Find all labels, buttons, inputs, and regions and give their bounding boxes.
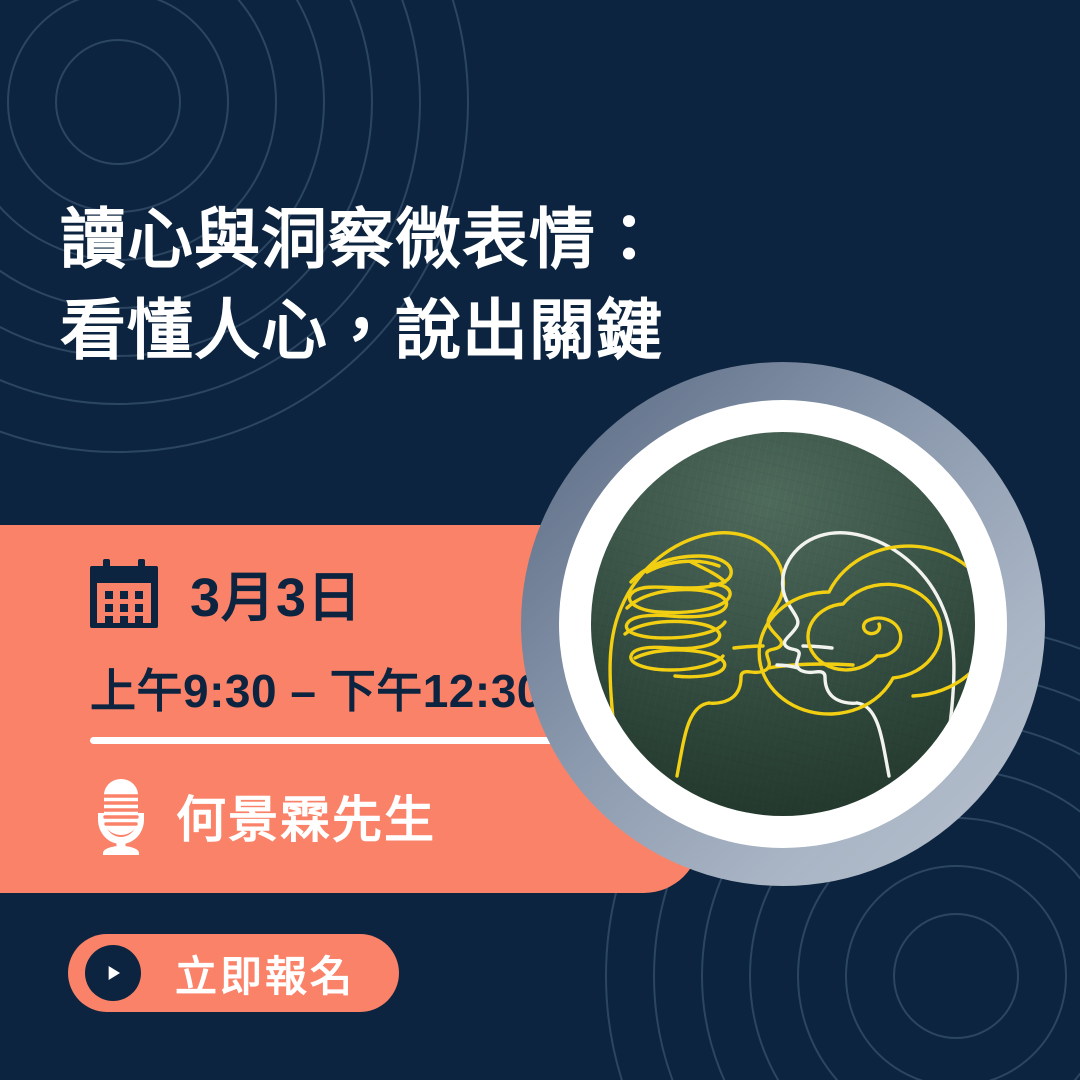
chalkboard-texture	[591, 432, 975, 816]
event-artwork-medallion	[521, 362, 1045, 886]
event-speaker: 何景霖先生	[176, 780, 436, 852]
page-title-line-1: 讀心與洞察微表情：	[60, 194, 780, 285]
microphone-icon	[92, 777, 150, 855]
event-speaker-row: 何景霖先生	[92, 777, 436, 855]
event-date: 3月3日	[190, 553, 362, 632]
register-button-label: 立即報名	[175, 943, 355, 1004]
chalkboard-illustration	[591, 432, 975, 816]
play-icon	[85, 945, 141, 1001]
event-date-row: 3月3日	[88, 553, 362, 632]
event-promo-poster: 讀心與洞察微表情： 看懂人心，說出關鍵	[0, 0, 1080, 1080]
register-button[interactable]: 立即報名	[68, 934, 399, 1012]
event-time: 上午9:30 – 下午12:30	[90, 655, 543, 721]
calendar-icon	[88, 557, 160, 629]
page-title: 讀心與洞察微表情： 看懂人心，說出關鍵	[60, 194, 780, 376]
panel-divider	[90, 737, 560, 744]
